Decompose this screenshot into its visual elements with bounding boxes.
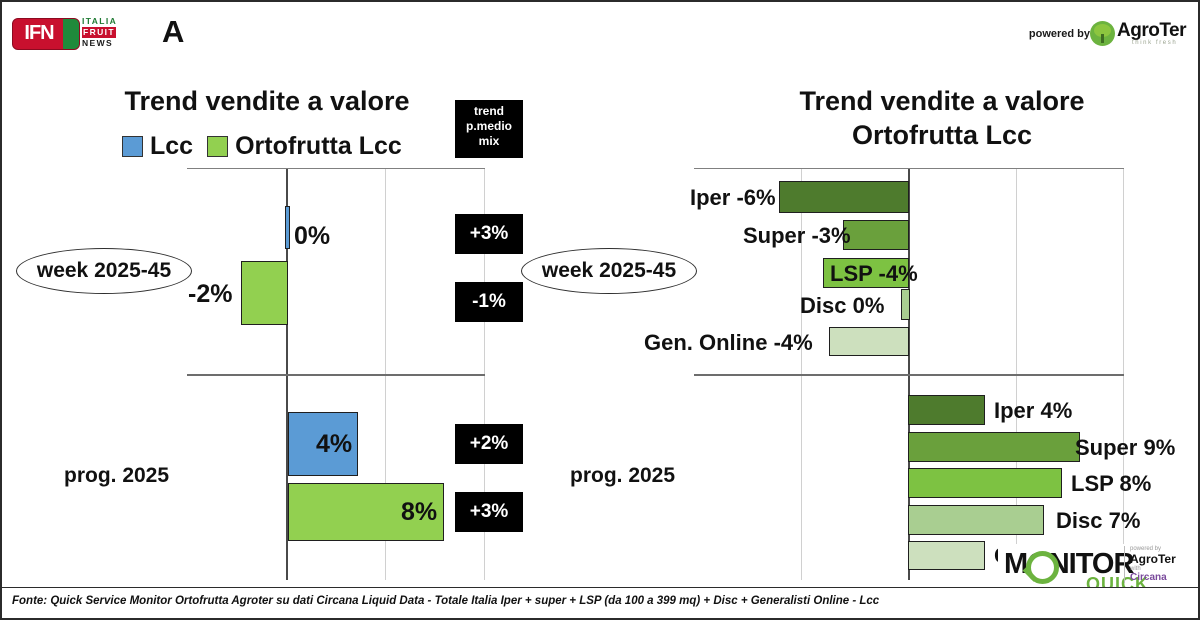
ifn-word-italia: ITALIA bbox=[82, 16, 136, 27]
tree-icon bbox=[1090, 21, 1115, 46]
right-bar-label-gen-online-week: Gen. Online -4% bbox=[644, 330, 813, 356]
trend-head-line1: trend bbox=[455, 104, 523, 119]
legend-swatch-lcc bbox=[122, 136, 143, 157]
left-bar-label-lcc-prog: 4% bbox=[316, 430, 352, 459]
ifn-logo-text: IFN bbox=[13, 19, 65, 49]
legend-item-lcc: Lcc bbox=[122, 132, 193, 161]
right-bar-gen-online-prog bbox=[908, 541, 985, 570]
ifn-logo-wedge bbox=[63, 19, 79, 49]
ifn-logo: IFN ITALIA FRUIT NEWS bbox=[12, 16, 134, 52]
ifn-logo-mark: IFN bbox=[12, 18, 80, 50]
left-bar-lcc-week bbox=[285, 206, 290, 249]
left-group-label-prog: prog. 2025 bbox=[64, 464, 169, 488]
footer-bar: Fonte: Quick Service Monitor Ortofrutta … bbox=[2, 587, 1198, 618]
left-bar-label-ortofrutta-prog: 8% bbox=[401, 498, 437, 527]
left-badge-ortofrutta-week: -1% bbox=[455, 282, 523, 322]
left-chart-legend: Lcc Ortofrutta Lcc bbox=[122, 132, 402, 161]
ifn-logo-words: ITALIA FRUIT NEWS bbox=[82, 16, 136, 49]
right-bar-gen-online-week bbox=[829, 327, 909, 356]
legend-label-ortofrutta-lcc: Ortofrutta Lcc bbox=[235, 132, 402, 161]
right-bar-lsp-prog bbox=[908, 468, 1062, 498]
slide-letter: A bbox=[162, 14, 184, 50]
left-badge-ortofrutta-prog: +3% bbox=[455, 492, 523, 532]
right-bar-label-iper-week: Iper -6% bbox=[690, 185, 776, 211]
trend-head-line2: p.medio bbox=[455, 119, 523, 134]
right-bar-label-lsp-prog: LSP 8% bbox=[1071, 471, 1151, 497]
footer-source-text: Fonte: Quick Service Monitor Ortofrutta … bbox=[12, 595, 879, 607]
left-bar-ortofrutta-week bbox=[241, 261, 288, 325]
right-chart-title: Trend vendite a valore Ortofrutta Lcc bbox=[662, 84, 1200, 152]
right-bar-label-disc-week: Disc 0% bbox=[800, 293, 884, 319]
left-group-divider bbox=[187, 374, 485, 376]
credit-agroter: AgroTer bbox=[1130, 552, 1192, 566]
left-badge-lcc-week: +3% bbox=[455, 214, 523, 254]
right-bar-label-lsp-week: LSP -4% bbox=[830, 261, 918, 287]
right-group-label-prog: prog. 2025 bbox=[570, 464, 675, 488]
slide-canvas: IFN ITALIA FRUIT NEWS A powered by AgroT… bbox=[0, 0, 1200, 620]
ifn-word-fruit: FRUIT bbox=[82, 27, 116, 38]
right-bar-label-iper-prog: Iper 4% bbox=[994, 398, 1072, 424]
right-bar-iper-week bbox=[779, 181, 909, 213]
right-bar-label-disc-prog: Disc 7% bbox=[1056, 508, 1140, 534]
right-group-label-week: week 2025-45 bbox=[521, 248, 697, 294]
right-bar-super-prog bbox=[908, 432, 1080, 462]
right-bar-iper-prog bbox=[908, 395, 985, 425]
right-bar-label-super-week: Super -3% bbox=[743, 223, 851, 249]
trend-head-line3: mix bbox=[455, 134, 523, 149]
right-bar-label-super-prog: Super 9% bbox=[1075, 435, 1175, 461]
agroter-logo-name: AgroTer bbox=[1117, 20, 1186, 42]
ifn-word-news: NEWS bbox=[82, 38, 136, 49]
agroter-logo: AgroTer think fresh bbox=[1090, 18, 1190, 52]
monitor-quick-credits: powered by AgroTer with Circana bbox=[1124, 546, 1192, 583]
left-chart-title: Trend vendite a valore bbox=[102, 86, 432, 117]
left-bar-label-ortofrutta-week: -2% bbox=[188, 280, 232, 309]
legend-swatch-ortofrutta-lcc bbox=[207, 136, 228, 157]
credit-circana: Circana bbox=[1130, 572, 1192, 583]
left-group-label-week: week 2025-45 bbox=[16, 248, 192, 294]
right-bar-super-week bbox=[843, 220, 909, 250]
right-bar-disc-week bbox=[901, 289, 910, 320]
left-bar-label-lcc-week: 0% bbox=[294, 222, 330, 251]
right-chart-title-line2: Ortofrutta Lcc bbox=[662, 118, 1200, 152]
right-bar-disc-prog bbox=[908, 505, 1044, 535]
right-group-divider bbox=[694, 374, 1124, 376]
trend-pmedio-mix-header: trend p.medio mix bbox=[455, 100, 523, 158]
legend-label-lcc: Lcc bbox=[150, 132, 193, 161]
right-chart-title-line1: Trend vendite a valore bbox=[662, 84, 1200, 118]
legend-item-ortofrutta-lcc: Ortofrutta Lcc bbox=[207, 132, 402, 161]
powered-by-label: powered by bbox=[1029, 28, 1090, 40]
agroter-logo-tagline: think fresh bbox=[1132, 40, 1177, 46]
left-badge-lcc-prog: +2% bbox=[455, 424, 523, 464]
